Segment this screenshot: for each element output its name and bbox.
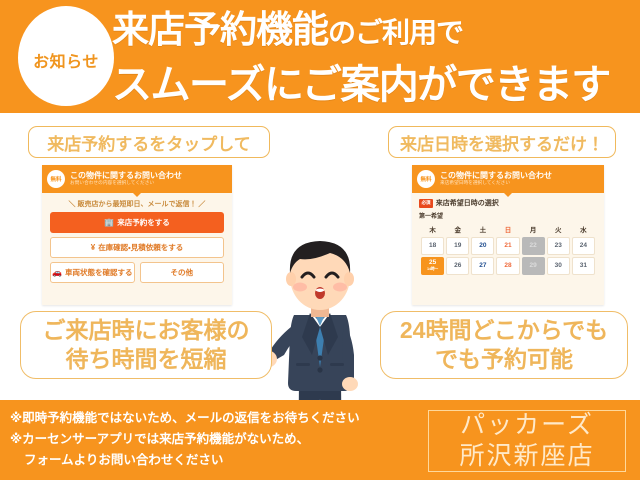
free-badge: 無料: [417, 170, 435, 188]
pill-callout-pick-date: 来店日時を選択するだけ！: [388, 126, 616, 158]
content-area: 来店予約するをタップして 来店日時を選択するだけ！ 無料 この物件に関するお問い…: [0, 113, 640, 400]
inquiry-form-mockup: 無料 この物件に関するお問い合わせ お問い合わせの内容を選択してください ＼ 販…: [42, 165, 232, 305]
shop-name-line-1: パッカーズ: [460, 410, 594, 441]
disclaimer-line-3: フォームよりお問い合わせください: [10, 450, 410, 471]
store-icon: 🏢: [104, 218, 114, 227]
calendar-day-number: 31: [580, 263, 587, 270]
shop-name-line-2: 所沢新座店: [459, 441, 594, 472]
disclaimer-line-1: ※即時予約機能ではないため、メールの返信をお待ちください: [10, 408, 410, 429]
inquiry-form-header: 無料 この物件に関するお問い合わせ お問い合わせの内容を選択してください: [42, 165, 232, 193]
headline-keyword: 来店予約機能: [112, 9, 328, 50]
calendar-day-number: 30: [555, 263, 562, 270]
calendar-day-number: 20: [479, 243, 486, 250]
calendar-day-number: 21: [504, 243, 511, 250]
calendar-day-23[interactable]: 23: [547, 237, 570, 255]
vehicle-condition-label: 車両状態を確認する: [65, 267, 133, 278]
calendar-day-number: 26: [454, 263, 461, 270]
vehicle-condition-button[interactable]: 🚗 車両状態を確認する: [50, 262, 135, 283]
headline-line-2: スムーズにご案内ができます: [112, 59, 632, 111]
calendar-form-header: 無料 この物件に関するお問い合わせ 来店希望日時を選択してください: [412, 165, 604, 193]
pill-callout-tap: 来店予約するをタップして: [28, 126, 270, 158]
calendar-day-25[interactable]: 2514時〜: [421, 257, 444, 275]
calendar-week-row: 18192021222324: [421, 237, 595, 255]
calendar-day-number: 28: [504, 263, 511, 270]
calendar-day-number: 25: [429, 260, 436, 267]
calendar-day-31[interactable]: 31: [572, 257, 595, 275]
headline-tail: のご利用で: [328, 17, 463, 48]
calendar-weekday-水: 水: [572, 224, 595, 235]
car-icon: 🚗: [52, 268, 62, 277]
notice-badge: お知らせ: [18, 6, 114, 106]
free-badge: 無料: [47, 170, 65, 188]
calendar-day-27[interactable]: 27: [471, 257, 494, 275]
stock-quote-button[interactable]: ¥ 在庫確認・見積依頼をする: [50, 237, 224, 258]
calendar-day-20[interactable]: 20: [471, 237, 494, 255]
calendar-day-number: 18: [429, 243, 436, 250]
benefit-callout-24h: 24時間どこからでも でも予約可能: [380, 311, 628, 379]
reserve-visit-label: 来店予約をする: [117, 217, 170, 228]
headline-line-1: 来店予約機能のご利用で: [112, 4, 632, 59]
preference-label: 第一希望: [419, 211, 597, 220]
other-button[interactable]: その他: [140, 262, 225, 283]
required-field-line: 必須 来店希望日時の選択: [419, 198, 597, 208]
calendar-day-number: 27: [479, 263, 486, 270]
calendar-day-21[interactable]: 21: [496, 237, 519, 255]
calendar-week-row: 2514時〜262728293031: [421, 257, 595, 275]
required-label: 来店希望日時の選択: [436, 198, 499, 208]
calendar-weekday-火: 火: [547, 224, 570, 235]
notice-badge-label: お知らせ: [33, 48, 99, 72]
header-band: お知らせ 来店予約機能のご利用で スムーズにご案内ができます: [0, 0, 640, 113]
calendar-weekday-金: 金: [446, 224, 469, 235]
calendar-day-number: 24: [580, 243, 587, 250]
calendar-weekday-月: 月: [522, 224, 545, 235]
calendar-body: 必須 来店希望日時の選択 第一希望 木金土日月火水 18192021222324…: [412, 193, 604, 277]
footer-band: ※即時予約機能ではないため、メールの返信をお待ちください ※カーセンサーアプリで…: [0, 400, 640, 480]
calendar-day-30[interactable]: 30: [547, 257, 570, 275]
promo-banner: お知らせ 来店予約機能のご利用で スムーズにご案内ができます 来店予約するをタッ…: [0, 0, 640, 480]
calendar-day-time: 14時〜: [427, 268, 438, 272]
inquiry-form-subtitle: お問い合わせの内容を選択してください: [70, 181, 182, 186]
header-notch-icon: [504, 193, 512, 197]
calendar-grid[interactable]: 木金土日月火水 18192021222324 2514時〜26272829303…: [419, 222, 597, 277]
yen-icon: ¥: [91, 243, 95, 252]
disclaimer-text: ※即時予約機能ではないため、メールの返信をお待ちください ※カーセンサーアプリで…: [10, 408, 410, 471]
calendar-day-22: 22: [522, 237, 545, 255]
free-badge-label: 無料: [50, 175, 61, 183]
calendar-mockup: 無料 この物件に関するお問い合わせ 来店希望日時を選択してください 必須 来店希…: [412, 165, 604, 305]
calendar-day-18[interactable]: 18: [421, 237, 444, 255]
calendar-form-title: この物件に関するお問い合わせ: [440, 172, 552, 180]
calendar-day-26[interactable]: 26: [446, 257, 469, 275]
calendar-day-24[interactable]: 24: [572, 237, 595, 255]
header-headline: 来店予約機能のご利用で スムーズにご案内ができます: [112, 4, 632, 111]
benefit-right-line-1: 24時間どこからでも: [400, 316, 608, 345]
required-tag: 必須: [419, 199, 433, 208]
calendar-day-number: 29: [530, 263, 537, 270]
benefit-left-line-2: 待ち時間を短縮: [66, 345, 227, 374]
calendar-day-number: 19: [454, 243, 461, 250]
other-label: その他: [171, 267, 194, 278]
benefit-right-line-2: でも予約可能: [435, 345, 573, 374]
calendar-day-29: 29: [522, 257, 545, 275]
free-badge-label: 無料: [420, 175, 431, 183]
calendar-day-number: 23: [555, 243, 562, 250]
calendar-weekday-土: 土: [471, 224, 494, 235]
calendar-weekday-日: 日: [496, 224, 519, 235]
calendar-day-number: 22: [530, 243, 537, 250]
benefit-callout-wait-time: ご来店時にお客様の 待ち時間を短縮: [20, 311, 272, 379]
benefit-left-line-1: ご来店時にお客様の: [43, 316, 250, 345]
disclaimer-line-2: ※カーセンサーアプリでは来店予約機能がないため、: [10, 429, 410, 450]
header-notch-icon: [133, 193, 141, 197]
stock-quote-label: 在庫確認・見積依頼をする: [98, 242, 183, 253]
shop-name-box: パッカーズ 所沢新座店: [428, 410, 626, 472]
reserve-visit-button[interactable]: 🏢 来店予約をする: [50, 212, 224, 233]
calendar-form-subtitle: 来店希望日時を選択してください: [440, 181, 552, 186]
calendar-weekday-木: 木: [421, 224, 444, 235]
calendar-weekday-row: 木金土日月火水: [421, 224, 595, 235]
calendar-day-19[interactable]: 19: [446, 237, 469, 255]
calendar-day-28[interactable]: 28: [496, 257, 519, 275]
inquiry-form-title: この物件に関するお問い合わせ: [70, 172, 182, 180]
